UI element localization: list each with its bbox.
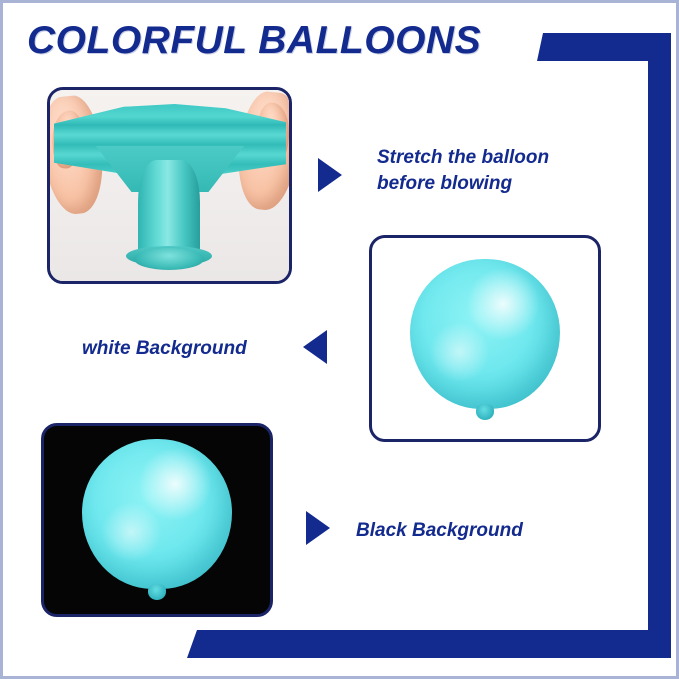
balloon-neck-lip — [134, 248, 204, 270]
balloon-black-bg — [82, 439, 232, 589]
callout-stretch-line2: before blowing — [377, 171, 607, 197]
callout-stretch-line1: Stretch the balloon — [377, 145, 607, 171]
photo-panel-stretch — [47, 87, 292, 284]
balloon-body — [410, 259, 560, 409]
page-title: COLORFUL BALLOONS — [27, 19, 481, 63]
callout-white-background: white Background — [82, 336, 247, 362]
photo-panel-black-background — [41, 423, 273, 617]
balloon-knot — [476, 404, 494, 420]
corner-bar-bottom-icon — [187, 630, 671, 658]
stretch-scene — [50, 90, 289, 281]
infographic-page: COLORFUL BALLOONS Stretch the balloon be… — [0, 0, 679, 679]
callout-stretch: Stretch the balloon before blowing — [377, 145, 607, 197]
balloon-knot — [148, 584, 166, 600]
triangle-right-icon-stretch — [318, 158, 342, 192]
balloon-body — [82, 439, 232, 589]
triangle-left-icon-white — [303, 330, 327, 364]
balloon-white-bg — [410, 259, 560, 409]
triangle-right-icon-black — [306, 511, 330, 545]
corner-bar-right-icon — [648, 33, 671, 658]
callout-black-background: Black Background — [356, 518, 523, 544]
photo-panel-white-background — [369, 235, 601, 442]
balloon-neck — [138, 160, 200, 260]
